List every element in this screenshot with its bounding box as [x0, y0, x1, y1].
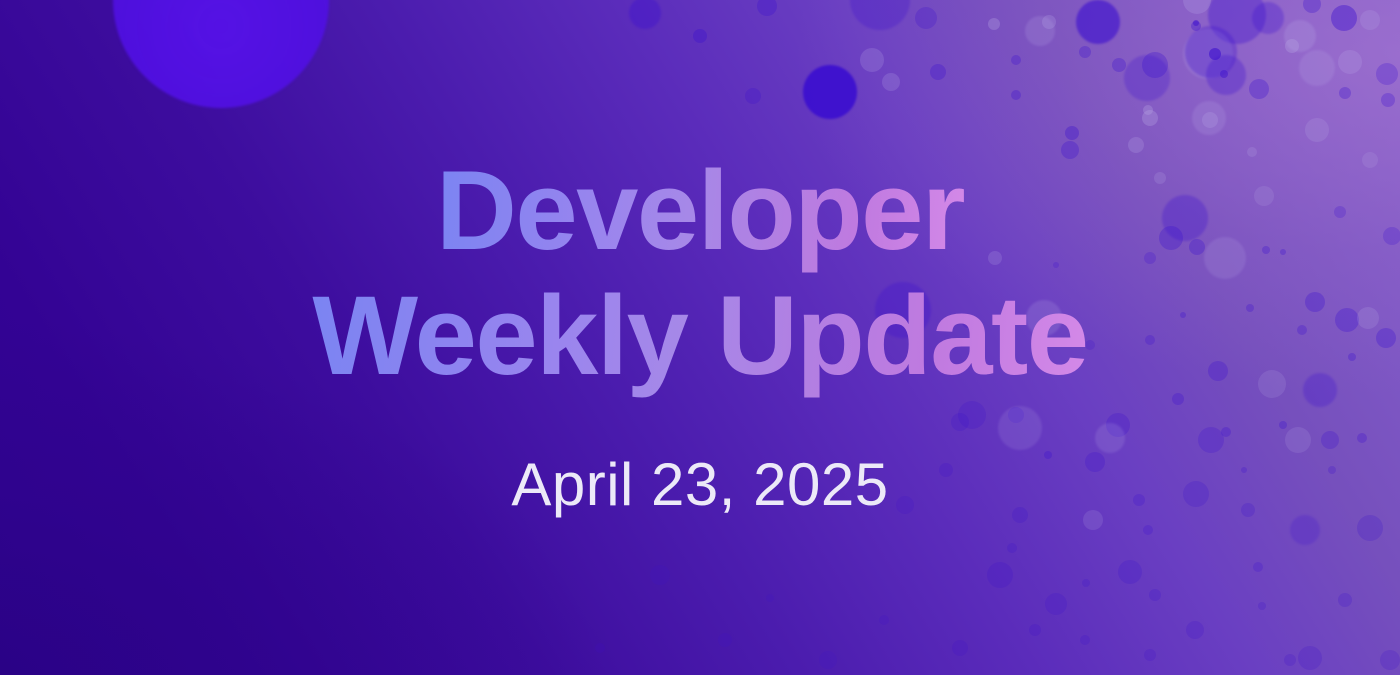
slide-content: Developer Weekly Update April 23, 2025 — [0, 0, 1400, 675]
page-title-line-1: Developer — [436, 148, 964, 273]
page-title-line-2: Weekly Update — [312, 273, 1087, 398]
weekly-update-slide: Developer Weekly Update April 23, 2025 — [0, 0, 1400, 675]
slide-date: April 23, 2025 — [511, 450, 888, 519]
